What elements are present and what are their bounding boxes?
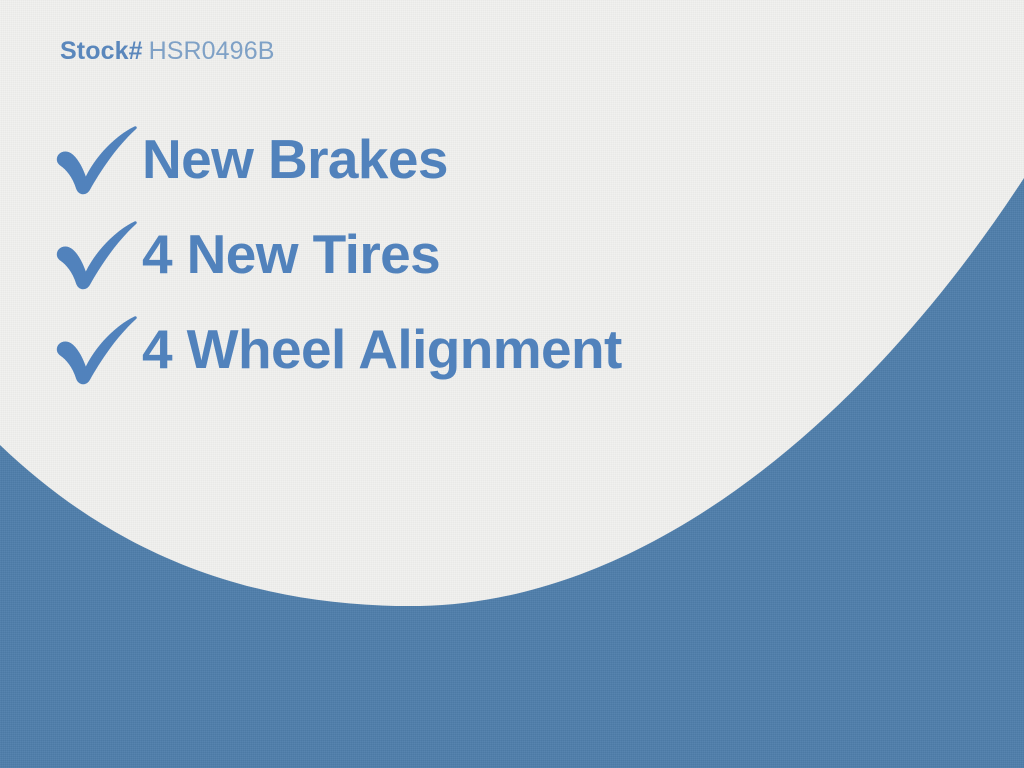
list-item: 4 Wheel Alignment bbox=[52, 302, 972, 397]
checkmark-icon bbox=[52, 123, 138, 197]
list-item-label: 4 Wheel Alignment bbox=[142, 322, 622, 377]
feature-slide: Stock#HSR0496B New Brakes 4 New Tires 4 bbox=[0, 0, 1024, 768]
checkmark-icon bbox=[52, 313, 138, 387]
list-item: New Brakes bbox=[52, 112, 972, 207]
stock-number-label: Stock# bbox=[60, 37, 143, 65]
list-item: 4 New Tires bbox=[52, 207, 972, 302]
stock-number-value: HSR0496B bbox=[149, 37, 275, 65]
list-item-label: New Brakes bbox=[142, 132, 448, 187]
feature-list: New Brakes 4 New Tires 4 Wheel Alignment bbox=[52, 112, 972, 397]
slide-content: Stock#HSR0496B New Brakes 4 New Tires 4 bbox=[0, 0, 1024, 768]
stock-number-line: Stock#HSR0496B bbox=[60, 36, 274, 66]
list-item-label: 4 New Tires bbox=[142, 227, 440, 282]
checkmark-icon bbox=[52, 218, 138, 292]
